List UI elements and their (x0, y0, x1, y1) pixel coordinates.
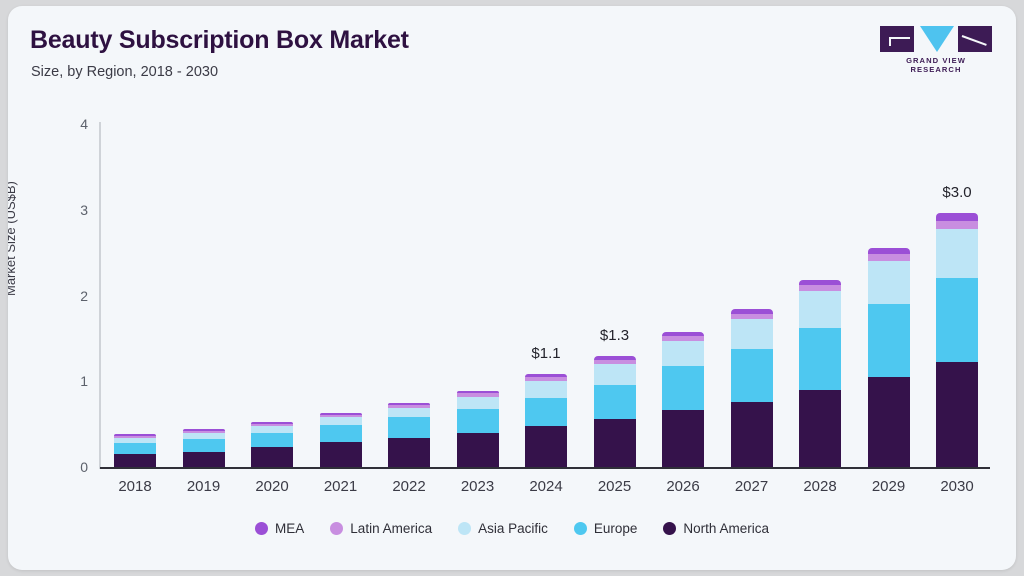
x-axis-line (100, 467, 990, 469)
bar-segment[interactable] (388, 408, 430, 417)
bar-segment[interactable] (868, 254, 910, 261)
bar-segment[interactable] (662, 366, 704, 411)
bar-segment[interactable] (868, 377, 910, 467)
bar-segment[interactable] (936, 278, 978, 363)
bar-segment[interactable] (183, 433, 225, 439)
bar-segment[interactable] (114, 436, 156, 438)
legend-label: North America (683, 521, 769, 536)
chart-subtitle: Size, by Region, 2018 - 2030 (31, 64, 218, 80)
legend-label: Latin America (350, 521, 432, 536)
bar-value-label: $3.0 (912, 184, 1002, 201)
logo-g-icon (880, 26, 914, 52)
chart-legend: MEALatin AmericaAsia PacificEuropeNorth … (8, 521, 1016, 536)
x-tick-label: 2022 (374, 478, 444, 495)
legend-label: Europe (594, 521, 638, 536)
bar-segment[interactable] (936, 213, 978, 221)
bar-segment[interactable] (114, 438, 156, 443)
legend-item[interactable]: MEA (255, 521, 304, 536)
legend-item[interactable]: North America (663, 521, 769, 536)
x-tick-label: 2028 (785, 478, 855, 495)
bar-segment[interactable] (320, 442, 362, 467)
bar-segment[interactable] (251, 433, 293, 448)
bar-segment[interactable] (251, 424, 293, 426)
bar-segment[interactable] (594, 419, 636, 467)
x-tick-label: 2023 (443, 478, 513, 495)
y-tick-label: 0 (48, 459, 88, 475)
y-tick-label: 4 (48, 116, 88, 132)
chart-card: Beauty Subscription Box Market Size, by … (8, 6, 1016, 570)
bar-segment[interactable] (388, 403, 430, 406)
bar-segment[interactable] (731, 314, 773, 319)
bar-segment[interactable] (731, 402, 773, 467)
x-tick-label: 2019 (169, 478, 239, 495)
bar-segment[interactable] (799, 285, 841, 291)
x-tick-label: 2020 (237, 478, 307, 495)
bar-segment[interactable] (799, 291, 841, 328)
logo-glyphs (880, 26, 992, 52)
legend-swatch-icon (574, 522, 587, 535)
bar-segment[interactable] (457, 393, 499, 396)
x-tick-label: 2024 (511, 478, 581, 495)
legend-swatch-icon (330, 522, 343, 535)
bar-segment[interactable] (525, 381, 567, 397)
plot-area: $1.1$1.3$3.0 (100, 124, 990, 467)
bar-segment[interactable] (799, 328, 841, 390)
bar-segment[interactable] (183, 439, 225, 452)
bar-segment[interactable] (936, 362, 978, 467)
bar-segment[interactable] (388, 405, 430, 408)
legend-label: MEA (275, 521, 304, 536)
chart-header: Beauty Subscription Box Market Size, by … (8, 6, 1016, 102)
x-tick-label: 2030 (922, 478, 992, 495)
bar-segment[interactable] (457, 433, 499, 467)
x-tick-label: 2025 (580, 478, 650, 495)
x-tick-label: 2026 (648, 478, 718, 495)
bar-segment[interactable] (251, 447, 293, 467)
bar-segment[interactable] (183, 429, 225, 431)
legend-item[interactable]: Latin America (330, 521, 432, 536)
legend-label: Asia Pacific (478, 521, 548, 536)
bar-segment[interactable] (731, 349, 773, 402)
bar-segment[interactable] (388, 438, 430, 467)
bar-segment[interactable] (662, 341, 704, 366)
bar-segment[interactable] (936, 221, 978, 230)
logo-wordmark: GRAND VIEW RESEARCH (880, 56, 992, 74)
bar-segment[interactable] (457, 397, 499, 409)
bar-segment[interactable] (525, 398, 567, 426)
legend-swatch-icon (663, 522, 676, 535)
bar-segment[interactable] (868, 304, 910, 377)
bar-segment[interactable] (936, 229, 978, 277)
bar-segment[interactable] (594, 356, 636, 359)
x-tick-label: 2029 (854, 478, 924, 495)
y-tick-label: 2 (48, 288, 88, 304)
bar-segment[interactable] (251, 422, 293, 424)
bar-segment[interactable] (251, 426, 293, 433)
x-tick-label: 2021 (306, 478, 376, 495)
bar-segment[interactable] (799, 390, 841, 467)
bar-segment[interactable] (525, 374, 567, 377)
bar-segment[interactable] (868, 261, 910, 304)
legend-swatch-icon (255, 522, 268, 535)
bar-segment[interactable] (525, 426, 567, 467)
bar-segment[interactable] (662, 410, 704, 467)
bar-segment[interactable] (183, 431, 225, 433)
legend-swatch-icon (458, 522, 471, 535)
x-tick-label: 2018 (100, 478, 170, 495)
bar-segment[interactable] (731, 319, 773, 349)
bar-segment[interactable] (594, 360, 636, 364)
logo-v-icon (920, 26, 954, 52)
bar-segment[interactable] (662, 332, 704, 336)
bar-segment[interactable] (320, 413, 362, 415)
bar-segment[interactable] (457, 409, 499, 433)
bar-segment[interactable] (183, 452, 225, 467)
bar-segment[interactable] (320, 415, 362, 418)
bar-segment[interactable] (662, 336, 704, 341)
bar-segment[interactable] (525, 377, 567, 381)
bar-value-label: $1.3 (570, 327, 660, 344)
bar-segment[interactable] (388, 417, 430, 438)
grand-view-research-logo: GRAND VIEW RESEARCH (880, 26, 992, 70)
legend-item[interactable]: Europe (574, 521, 638, 536)
bar-segment[interactable] (594, 385, 636, 419)
y-tick-label: 3 (48, 202, 88, 218)
logo-r-icon (958, 26, 992, 52)
bar-segment[interactable] (731, 309, 773, 313)
bar-segment[interactable] (320, 417, 362, 425)
bar-segment[interactable] (594, 364, 636, 385)
bar-value-label: $1.1 (501, 345, 591, 362)
y-tick-label: 1 (48, 373, 88, 389)
bar-segment[interactable] (114, 454, 156, 467)
y-axis-label: Market Size (US$B) (8, 181, 18, 296)
bar-segment[interactable] (868, 248, 910, 254)
page-title: Beauty Subscription Box Market (30, 26, 409, 55)
bar-segment[interactable] (320, 425, 362, 442)
bar-segment[interactable] (114, 443, 156, 454)
x-tick-label: 2027 (717, 478, 787, 495)
legend-item[interactable]: Asia Pacific (458, 521, 548, 536)
bar-segment[interactable] (799, 280, 841, 285)
bar-segment[interactable] (114, 434, 156, 436)
bar-segment[interactable] (457, 391, 499, 394)
